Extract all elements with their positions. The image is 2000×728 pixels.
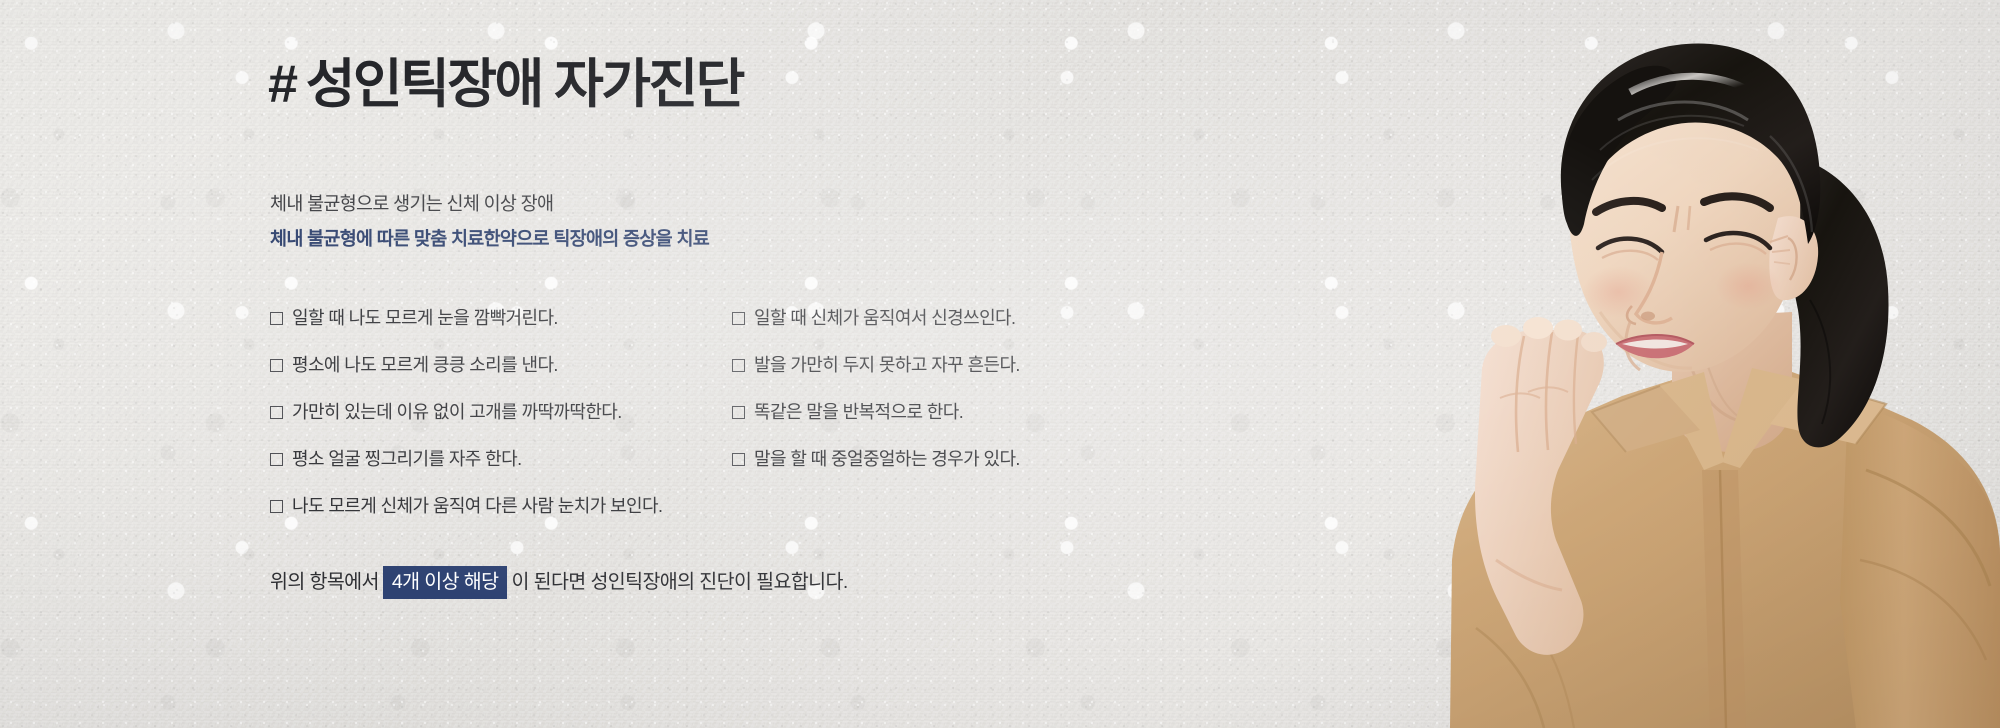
subtitle-line-2: 체내 불균형에 따른 맞춤 치료한약으로 틱장애의 증상을 치료 — [270, 225, 709, 251]
checklist-item-label: 똑같은 말을 반복적으로 한다. — [754, 402, 963, 422]
checklist-item[interactable]: 평소에 나도 모르게 킁킁 소리를 낸다. — [270, 342, 790, 389]
conclusion-suffix: 이 된다면 성인틱장애의 진단이 필요합니다. — [511, 571, 847, 593]
conclusion-prefix: 위의 항목에서 — [270, 571, 379, 593]
subtitle-line-1: 체내 불균형으로 생기는 신체 이상 장애 — [270, 190, 553, 216]
checkbox-icon[interactable] — [270, 500, 283, 513]
conclusion-text: 위의 항목에서4개 이상 해당이 된다면 성인틱장애의 진단이 필요합니다. — [270, 562, 848, 602]
checkbox-icon[interactable] — [732, 312, 745, 325]
checklist-item-label: 일할 때 나도 모르게 눈을 깜빡거린다. — [292, 308, 558, 328]
checklist-item-label: 가만히 있는데 이유 없이 고개를 까딱까딱한다. — [292, 402, 622, 422]
checkbox-icon[interactable] — [732, 359, 745, 372]
checklist-item[interactable]: 일할 때 나도 모르게 눈을 깜빡거린다. — [270, 295, 790, 342]
checklist-item-label: 발을 가만히 두지 못하고 자꾸 흔든다. — [754, 355, 1020, 375]
page-title-text: 성인틱장애 자가진단 — [306, 55, 743, 114]
checkbox-icon[interactable] — [732, 453, 745, 466]
hash-symbol: # — [268, 55, 296, 114]
checklist-item[interactable]: 말을 할 때 중얼중얼하는 경우가 있다. — [732, 436, 1272, 483]
conclusion-highlight-badge: 4개 이상 해당 — [383, 566, 508, 599]
checkbox-icon[interactable] — [732, 406, 745, 419]
checklist-item[interactable]: 발을 가만히 두지 못하고 자꾸 흔든다. — [732, 342, 1272, 389]
checkbox-icon[interactable] — [270, 406, 283, 419]
checklist-item-label: 말을 할 때 중얼중얼하는 경우가 있다. — [754, 449, 1020, 469]
checklist-item[interactable]: 가만히 있는데 이유 없이 고개를 까딱까딱한다. — [270, 389, 790, 436]
checklist-item[interactable]: 일할 때 신체가 움직여서 신경쓰인다. — [732, 295, 1272, 342]
checkbox-icon[interactable] — [270, 312, 283, 325]
checkbox-icon[interactable] — [270, 453, 283, 466]
checklist-item-label: 평소 얼굴 찡그리기를 자주 한다. — [292, 449, 521, 469]
checklist-column-right: 일할 때 신체가 움직여서 신경쓰인다. 발을 가만히 두지 못하고 자꾸 흔든… — [732, 295, 1272, 483]
checklist-item-label: 일할 때 신체가 움직여서 신경쓰인다. — [754, 308, 1015, 328]
checklist-item[interactable]: 나도 모르게 신체가 움직여 다른 사람 눈치가 보인다. — [270, 483, 790, 530]
checklist-item-label: 평소에 나도 모르게 킁킁 소리를 낸다. — [292, 355, 558, 375]
checklist-item[interactable]: 똑같은 말을 반복적으로 한다. — [732, 389, 1272, 436]
checkbox-icon[interactable] — [270, 359, 283, 372]
page-title: #성인틱장애 자가진단 — [268, 58, 743, 111]
self-diagnosis-banner: #성인틱장애 자가진단 체내 불균형으로 생기는 신체 이상 장애 체내 불균형… — [0, 0, 2000, 728]
checklist-item[interactable]: 평소 얼굴 찡그리기를 자주 한다. — [270, 436, 790, 483]
banner-content: #성인틱장애 자가진단 체내 불균형으로 생기는 신체 이상 장애 체내 불균형… — [268, 0, 1348, 728]
checklist-item-label: 나도 모르게 신체가 움직여 다른 사람 눈치가 보인다. — [292, 496, 662, 516]
checklist-column-left: 일할 때 나도 모르게 눈을 깜빡거린다. 평소에 나도 모르게 킁킁 소리를 … — [270, 295, 790, 530]
